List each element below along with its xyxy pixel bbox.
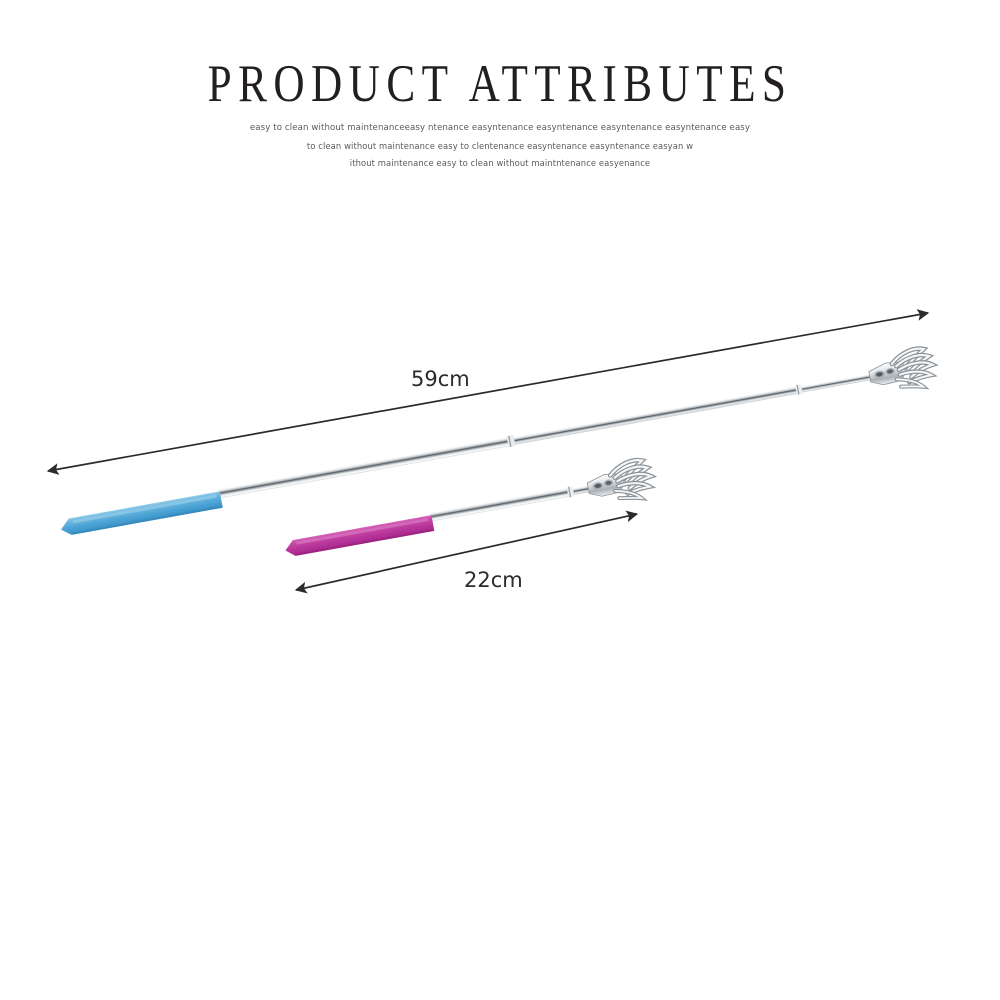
telescoping-shaft-collapsed bbox=[430, 482, 595, 522]
dimension-label-59cm: 59cm bbox=[411, 367, 470, 391]
product-attributes-page: PRODUCT ATTRIBUTES easy to clean without… bbox=[0, 0, 1000, 1000]
product-svg: 59cm bbox=[0, 0, 1000, 1000]
pink-handle bbox=[284, 515, 434, 557]
telescoping-shaft-extended bbox=[218, 370, 876, 499]
bear-claw-head bbox=[866, 346, 936, 395]
dimension-label-22cm: 22cm bbox=[464, 568, 523, 592]
blue-handle bbox=[59, 491, 222, 536]
bear-claw-head bbox=[585, 458, 655, 507]
back-scratcher-extended bbox=[56, 346, 936, 541]
product-illustration: 59cm bbox=[0, 0, 1000, 1000]
